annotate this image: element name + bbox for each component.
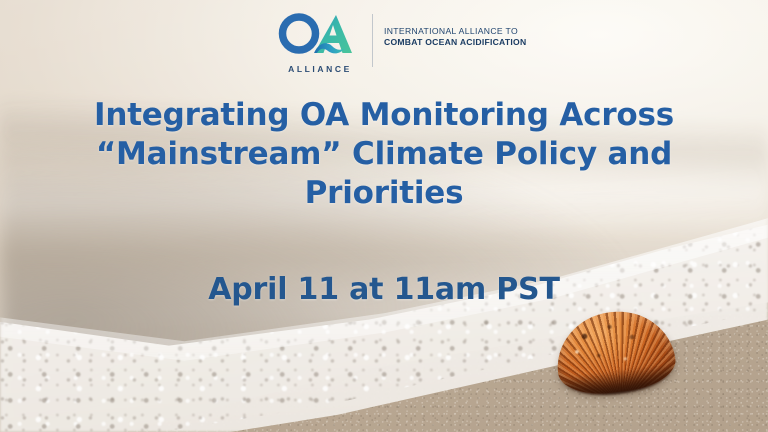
tagline-line-1: INTERNATIONAL ALLIANCE TO <box>384 26 526 37</box>
oa-alliance-logo: ALLIANCE INTERNATIONAL ALLIANCE TO COMBA… <box>277 11 492 73</box>
tagline-line-2: COMBAT OCEAN ACIDIFICATION <box>384 37 526 48</box>
event-datetime: April 11 at 11am PST <box>0 272 768 307</box>
logo-mark: ALLIANCE <box>277 11 363 73</box>
circle-o-icon <box>283 17 316 50</box>
page-title: Integrating OA Monitoring Across “Mainst… <box>0 96 768 213</box>
logo-wordmark: ALLIANCE <box>277 65 363 74</box>
logo-tagline: INTERNATIONAL ALLIANCE TO COMBAT OCEAN A… <box>384 11 526 49</box>
oa-monogram-icon <box>277 11 363 56</box>
vertical-divider-icon <box>372 14 373 67</box>
webinar-promo-slide: ALLIANCE INTERNATIONAL ALLIANCE TO COMBA… <box>0 0 768 432</box>
title-line-3: Priorities <box>52 174 716 213</box>
title-line-1: Integrating OA Monitoring Across <box>52 96 716 135</box>
seashell <box>552 305 679 399</box>
title-line-2: “Mainstream” Climate Policy and <box>52 135 716 174</box>
